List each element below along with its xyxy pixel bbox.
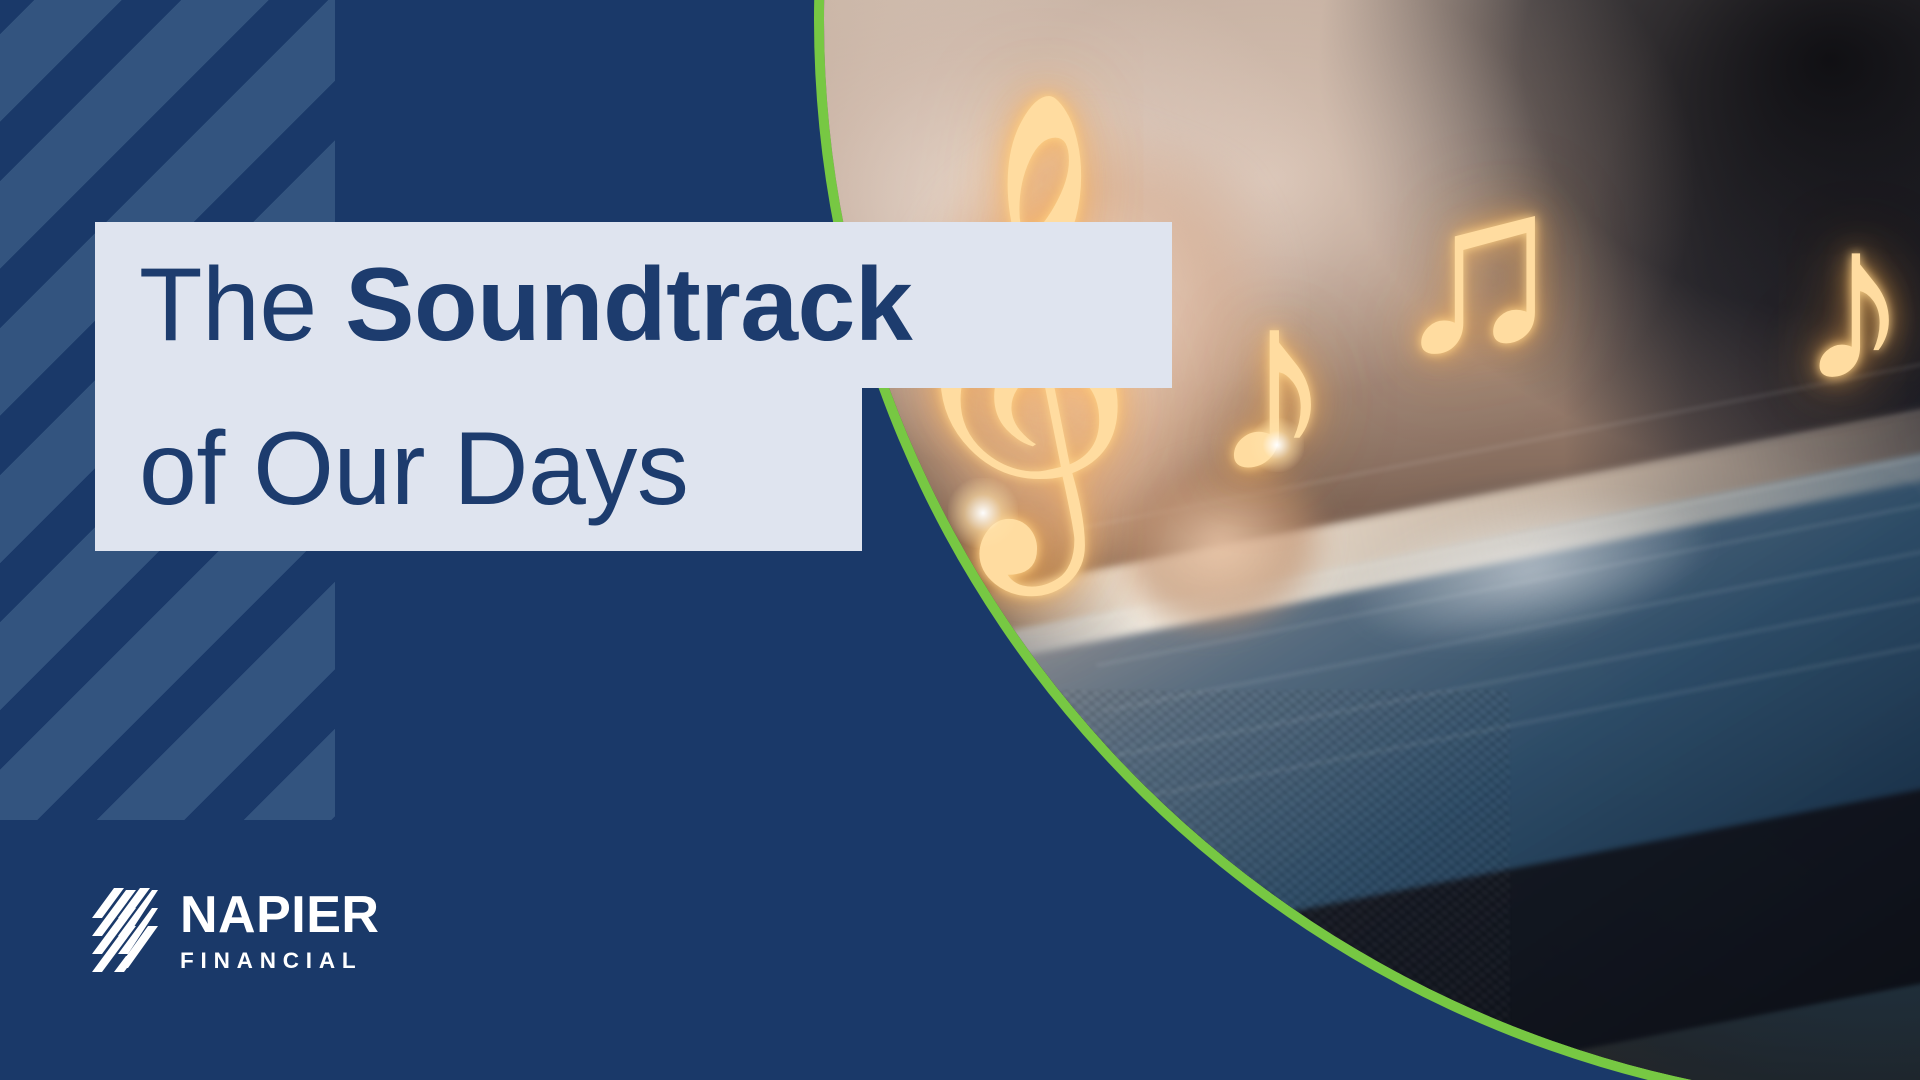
beamed-eighth-notes-icon: ♫ — [1390, 150, 1566, 385]
logo-company-name: NAPIER — [180, 889, 379, 941]
headline-line-2: of Our Days — [139, 410, 688, 529]
headline-line-1: The Soundtrack — [139, 246, 912, 365]
headline-line-1-bold: Soundtrack — [345, 247, 912, 363]
brand-logo: NAPIER FINANCIAL — [88, 888, 379, 974]
logo-tagline: FINANCIAL — [180, 950, 379, 973]
logo-wordmark: NAPIER FINANCIAL — [180, 889, 379, 973]
headline-box-line-2: of Our Days — [95, 388, 862, 551]
phone-side-button — [883, 739, 915, 815]
eighth-note-far-icon: ♪ — [1798, 190, 1911, 415]
eighth-note-icon: ♪ — [1210, 260, 1335, 510]
sparkle-glow — [948, 478, 1018, 548]
napier-stripes-mark-icon — [88, 888, 162, 974]
sparkle-glow-secondary — [1250, 418, 1304, 472]
headline-line-1-thin: The — [139, 247, 345, 363]
marketing-banner: 𝄞 ♪ ♫ ♪ The Soundtrack of Our Days — [0, 0, 1920, 1080]
leather-surface-texture — [650, 690, 1510, 1080]
headline-box-line-1: The Soundtrack — [95, 222, 1172, 388]
